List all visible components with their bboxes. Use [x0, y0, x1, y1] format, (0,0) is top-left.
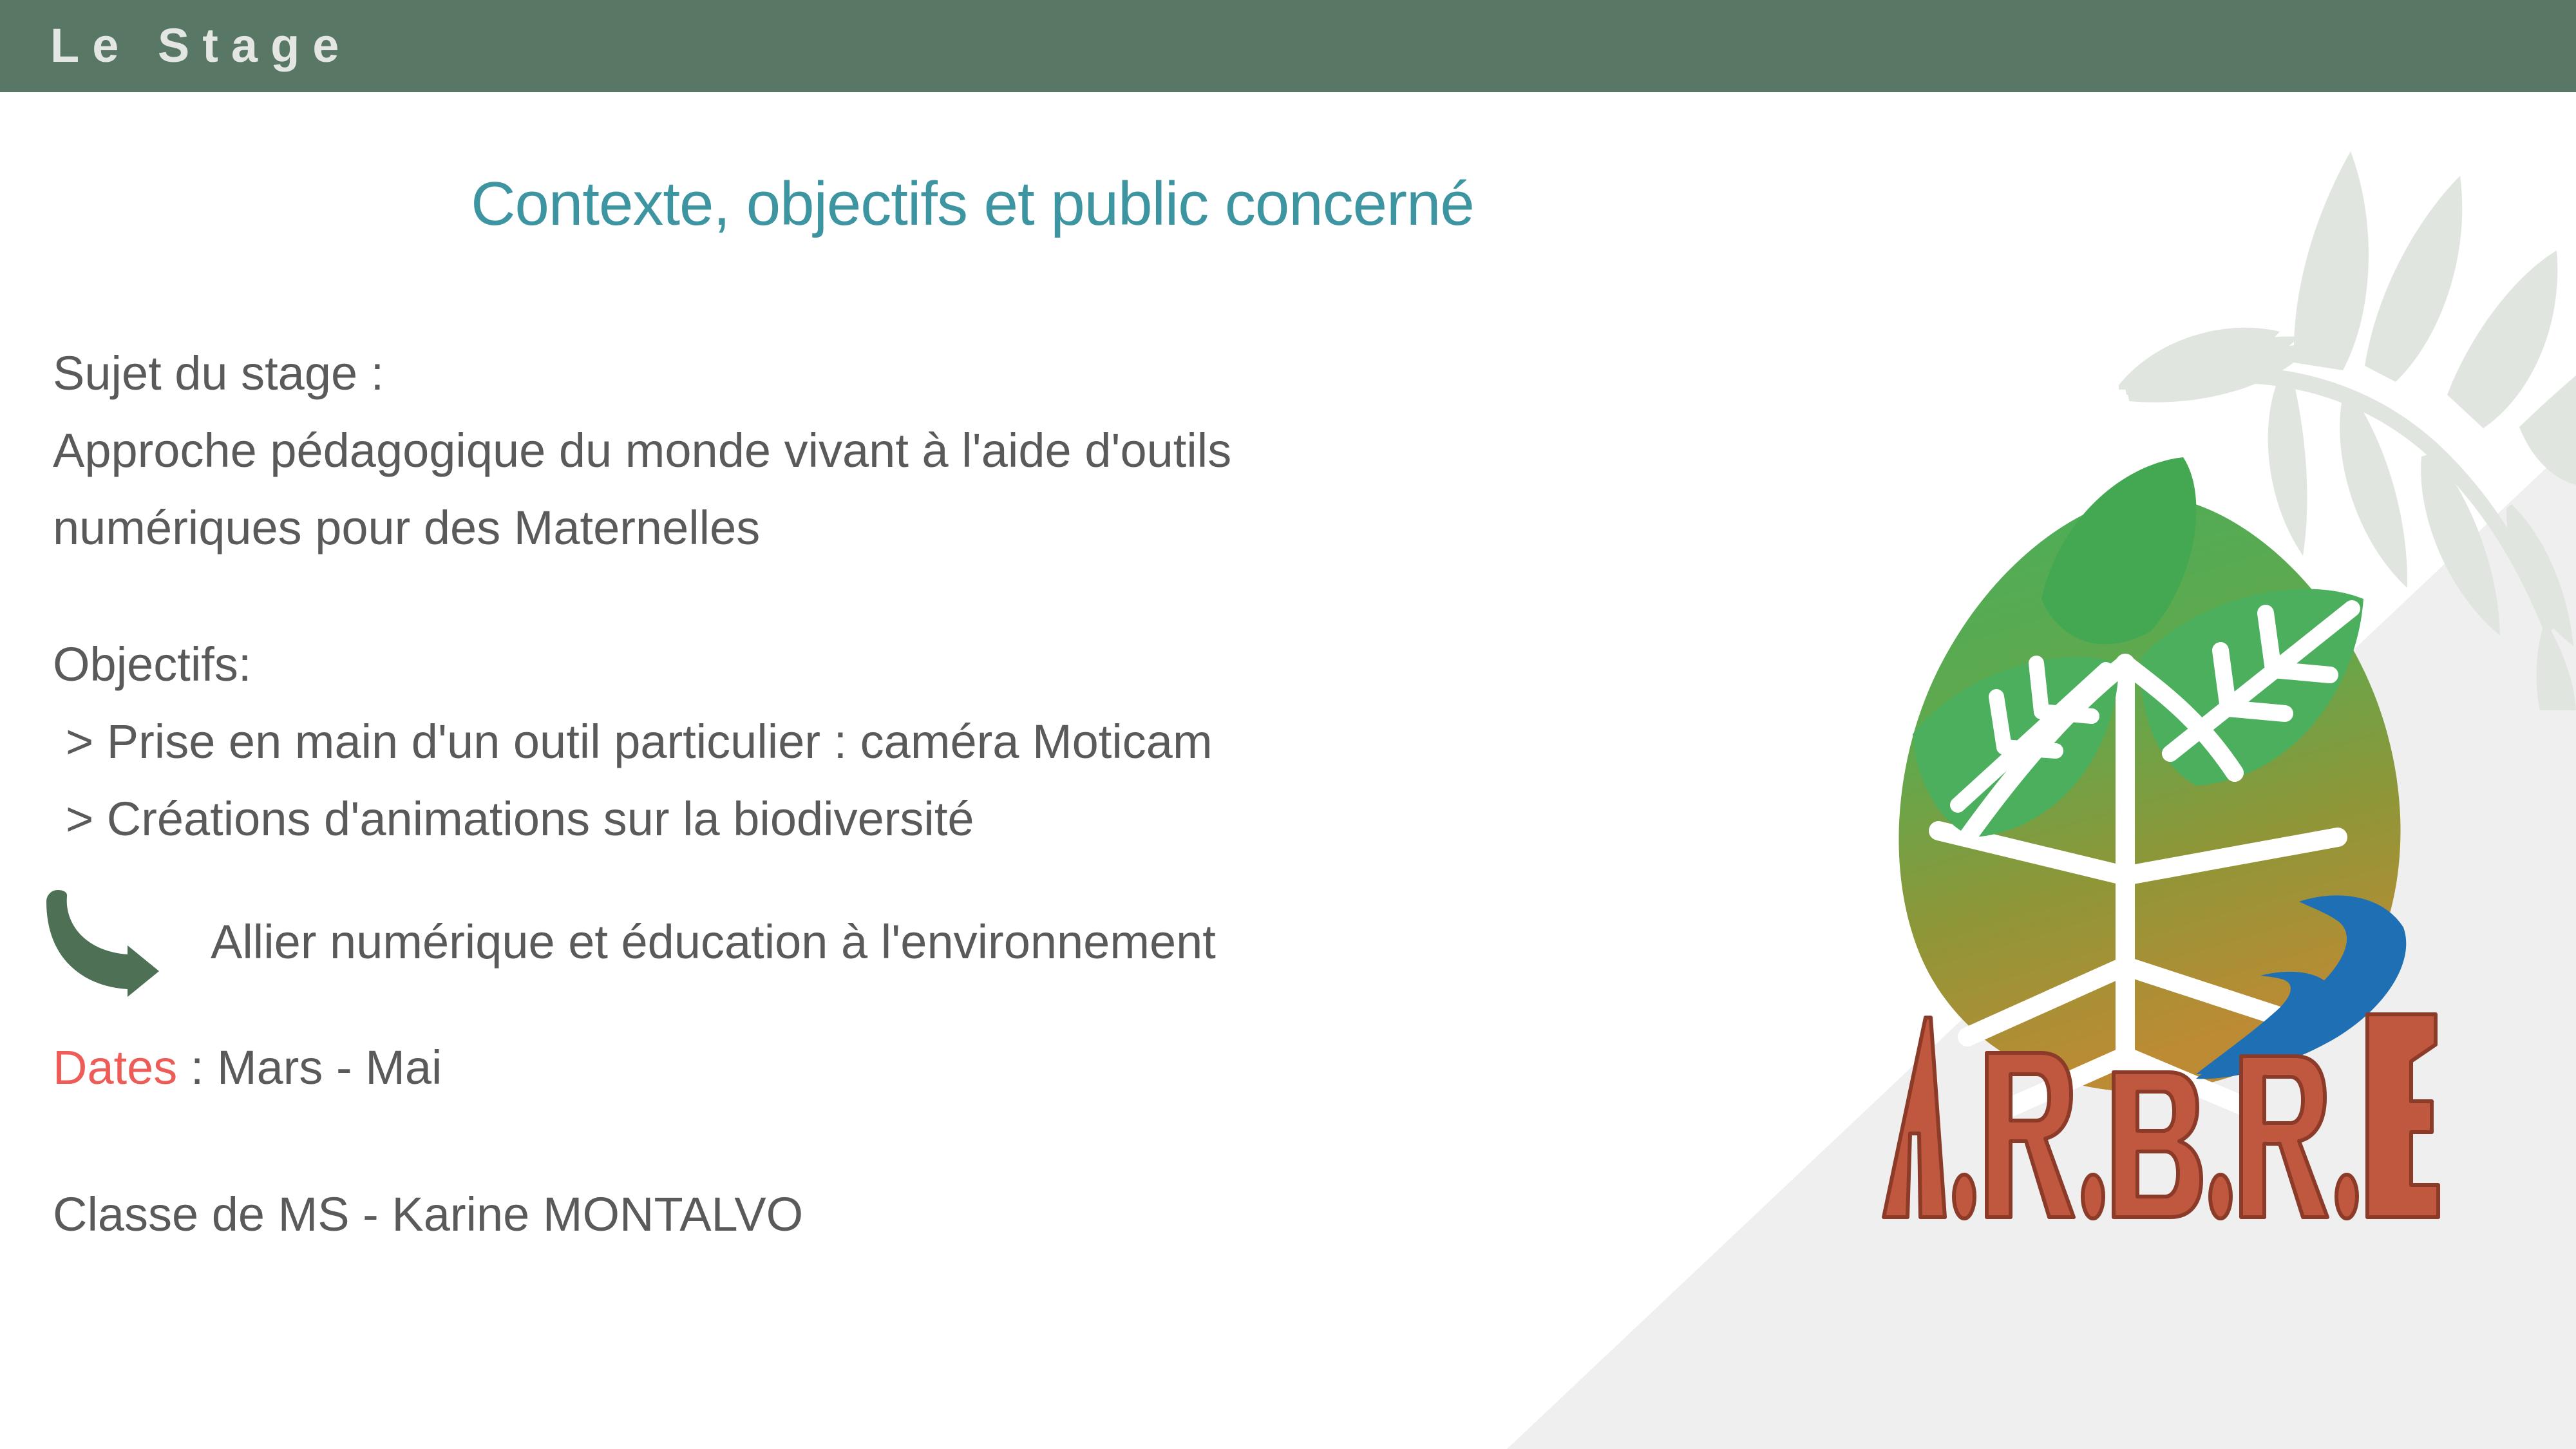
content-body: Sujet du stage : Approche pédagogique du… [53, 335, 1856, 1253]
dates-label: Dates [53, 1041, 177, 1094]
objective-item: > Prise en main d'un outil particulier :… [53, 703, 1856, 781]
curved-arrow-icon [27, 882, 182, 998]
spacer [53, 858, 1856, 889]
spacer [53, 567, 1856, 626]
arbre-logo [1848, 386, 2467, 1224]
class-line: Classe de MS - Karine MONTALVO [53, 1176, 1856, 1253]
slide-canvas: Le Stage Contexte, objectifs et public c… [0, 0, 2576, 1449]
header-title: Le Stage [50, 17, 352, 75]
objectives-label: Objectifs: [53, 626, 1856, 703]
spacer [53, 1106, 1856, 1176]
objective-item: > Créations d'animations sur la biodiver… [53, 781, 1856, 858]
subject-line-2: numériques pour des Maternelles [53, 489, 1856, 567]
subject-label: Sujet du stage : [53, 335, 1856, 412]
dates-value: : Mars - Mai [177, 1041, 442, 1094]
highlight-row: Allier numérique et éducation à l'enviro… [53, 889, 1856, 998]
header-bar: Le Stage [0, 0, 2576, 92]
highlight-text: Allier numérique et éducation à l'enviro… [211, 907, 1216, 978]
page-title: Contexte, objectifs et public concerné [0, 169, 1945, 240]
subject-line-1: Approche pédagogique du monde vivant à l… [53, 412, 1856, 489]
arbre-logo-graphic [1848, 386, 2467, 1224]
spacer [53, 998, 1856, 1029]
dates-line: Dates : Mars - Mai [53, 1029, 1856, 1106]
